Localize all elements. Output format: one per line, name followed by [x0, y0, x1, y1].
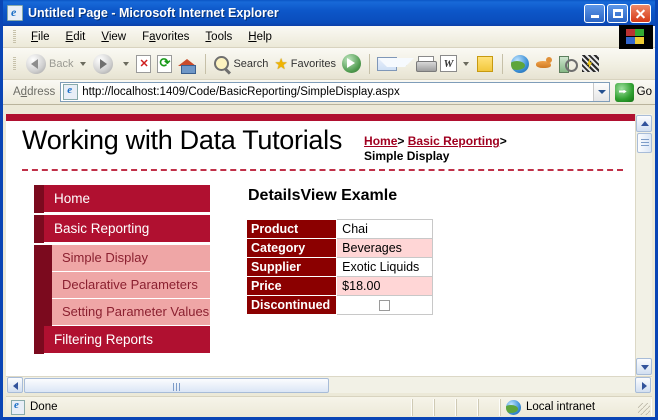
table-row: Category Beverages	[247, 239, 433, 258]
favorites-label: Favorites	[291, 58, 336, 70]
ie-page-icon	[7, 5, 23, 21]
go-arrow-icon	[615, 83, 634, 102]
table-row: Product Chai	[247, 220, 433, 239]
breadcrumb-sep-1: >	[397, 134, 404, 148]
close-button[interactable]	[630, 4, 651, 23]
sidebar-item-setting-parameter-values[interactable]: Setting Parameter Values	[52, 299, 210, 326]
sidebar-item-declarative-parameters[interactable]: Declarative Parameters	[52, 272, 210, 299]
ie-page-icon-small	[63, 84, 78, 100]
resize-grip[interactable]	[638, 403, 650, 415]
page-title: Working with Data Tutorials	[22, 125, 342, 156]
breadcrumb-sep-2: >	[500, 134, 507, 148]
sidebar-item-basic-reporting[interactable]: Basic Reporting	[34, 215, 210, 243]
toolbar-separator-2	[369, 54, 370, 74]
menu-favorites[interactable]: Favorites	[134, 29, 197, 45]
address-dropdown-icon[interactable]	[593, 83, 609, 101]
discontinued-checkbox[interactable]	[379, 300, 390, 311]
row-field-label: Product	[247, 220, 337, 239]
ie-page-icon-status	[11, 400, 25, 415]
back-icon	[26, 54, 46, 74]
navigation-toolbar: Back Search ★ Favorites W	[3, 48, 655, 80]
sidebar-subnav: Simple Display Declarative Parameters Se…	[34, 245, 210, 326]
menu-view[interactable]: View	[93, 29, 134, 45]
windows-logo-icon	[619, 25, 653, 49]
status-bar: Done Local intranet	[6, 396, 652, 417]
go-button[interactable]: Go	[615, 83, 652, 102]
row-field-label: Price	[247, 277, 337, 296]
nav-sub-accent-bar	[34, 245, 52, 326]
vertical-scroll-thumb[interactable]	[637, 133, 652, 153]
globe-icon	[506, 400, 521, 415]
page-header: Working with Data Tutorials Home> Basic …	[6, 121, 635, 166]
main-content: DetailsView Examle Product Chai Category…	[246, 185, 433, 356]
scroll-down-button[interactable]	[636, 358, 652, 375]
sidebar-subnav-list: Simple Display Declarative Parameters Se…	[52, 245, 210, 326]
nav-accent-bar	[34, 326, 44, 354]
status-text: Done	[30, 401, 58, 413]
refresh-icon[interactable]	[157, 55, 172, 73]
back-button[interactable]: Back	[23, 52, 76, 76]
horizontal-scroll-thumb[interactable]	[24, 378, 329, 393]
search-button[interactable]: Search	[211, 52, 271, 76]
window-buttons	[584, 4, 653, 23]
menu-tools[interactable]: Tools	[197, 29, 240, 45]
status-pane-2	[434, 399, 456, 416]
address-bar: Address http://localhost:1409/Code/Basic…	[3, 80, 655, 105]
scroll-right-button[interactable]	[635, 377, 651, 393]
go-label: Go	[637, 86, 652, 98]
media-icon[interactable]	[342, 54, 361, 73]
row-field-label: Supplier	[247, 258, 337, 277]
browser-window: Untitled Page - Microsoft Internet Explo…	[0, 0, 658, 420]
globe-icon[interactable]	[511, 55, 529, 73]
status-pane-3	[456, 399, 478, 416]
vertical-scrollbar[interactable]	[635, 114, 652, 376]
table-row: Supplier Exotic Liquids	[247, 258, 433, 277]
minimize-button[interactable]	[584, 4, 605, 23]
table-row: Discontinued	[247, 296, 433, 315]
breadcrumb-section-link[interactable]: Basic Reporting	[408, 134, 500, 148]
row-field-label: Discontinued	[247, 296, 337, 315]
menu-help[interactable]: Help	[240, 29, 280, 45]
content-heading: DetailsView Examle	[248, 187, 433, 205]
forward-button[interactable]	[90, 52, 119, 76]
maximize-button[interactable]	[607, 4, 628, 23]
status-pane-1	[412, 399, 434, 416]
table-row: Price $18.00	[247, 277, 433, 296]
horizontal-scrollbar[interactable]	[6, 376, 652, 393]
row-value: Beverages	[337, 239, 433, 258]
forward-dropdown-icon[interactable]	[123, 62, 129, 66]
security-zone-pane[interactable]: Local intranet	[500, 399, 652, 416]
favorites-button[interactable]: ★ Favorites	[271, 52, 339, 76]
sidebar-nav: Home Basic Reporting Simple Display Decl…	[34, 185, 210, 356]
menu-bar: File Edit View Favorites Tools Help	[3, 26, 655, 48]
home-icon[interactable]	[178, 55, 197, 72]
search-icon	[214, 56, 229, 71]
address-label: Address	[13, 86, 55, 98]
content-viewport: Working with Data Tutorials Home> Basic …	[6, 114, 652, 376]
window-title: Untitled Page - Microsoft Internet Explo…	[28, 6, 584, 20]
messenger-icon[interactable]	[582, 55, 599, 72]
row-value: $18.00	[337, 277, 433, 296]
status-pane-4	[478, 399, 500, 416]
toolbar-separator	[205, 54, 206, 74]
toolbar-grip[interactable]	[13, 57, 16, 71]
address-input[interactable]: http://localhost:1409/Code/BasicReportin…	[60, 82, 609, 102]
row-value: Chai	[337, 220, 433, 239]
row-value-checkbox	[337, 296, 433, 315]
menu-edit[interactable]: Edit	[58, 29, 94, 45]
address-url-text: http://localhost:1409/Code/BasicReportin…	[82, 86, 592, 98]
research-icon[interactable]	[559, 55, 576, 72]
favorites-star-icon: ★	[274, 55, 287, 73]
sidebar-item-simple-display[interactable]: Simple Display	[52, 245, 210, 272]
sidebar-item-filtering-reports[interactable]: Filtering Reports	[34, 326, 210, 354]
menu-grip[interactable]	[13, 30, 16, 44]
breadcrumb-current: Simple Display	[364, 149, 449, 163]
print-icon[interactable]	[416, 56, 435, 71]
back-dropdown-icon[interactable]	[80, 62, 86, 66]
detailsview-body: Product Chai Category Beverages Supplier…	[247, 220, 433, 315]
web-page: Working with Data Tutorials Home> Basic …	[6, 114, 635, 376]
row-field-label: Category	[247, 239, 337, 258]
edit-word-icon[interactable]: W	[440, 55, 457, 72]
back-label: Back	[49, 58, 73, 70]
scroll-left-button[interactable]	[7, 377, 23, 393]
sidebar-item-label: Basic Reporting	[44, 215, 210, 243]
page-body: Home Basic Reporting Simple Display Decl…	[6, 171, 635, 356]
scroll-up-button[interactable]	[636, 115, 652, 132]
mail-icon[interactable]	[377, 57, 397, 71]
menu-file[interactable]: File	[23, 29, 58, 45]
edit-dropdown-icon[interactable]	[463, 62, 469, 66]
forward-icon	[93, 54, 113, 74]
breadcrumb: Home> Basic Reporting> Simple Display	[364, 134, 507, 164]
breadcrumb-home-link[interactable]: Home	[364, 134, 397, 148]
status-message-pane: Done	[6, 399, 412, 416]
toolbar-separator-3	[502, 54, 503, 74]
sidebar-item-home[interactable]: Home	[34, 185, 210, 213]
detailsview-table: Product Chai Category Beverages Supplier…	[246, 219, 433, 315]
fox-icon[interactable]	[535, 56, 553, 72]
zone-label: Local intranet	[526, 401, 595, 413]
title-bar: Untitled Page - Microsoft Internet Explo…	[3, 0, 655, 26]
search-label: Search	[233, 58, 268, 70]
sidebar-item-label: Filtering Reports	[44, 326, 210, 354]
nav-accent-bar	[34, 215, 44, 243]
row-value: Exotic Liquids	[337, 258, 433, 277]
sidebar-item-label: Home	[44, 185, 210, 213]
notes-icon[interactable]	[477, 56, 493, 72]
page-top-bar	[6, 114, 635, 121]
stop-icon[interactable]	[136, 55, 151, 73]
nav-accent-bar	[34, 185, 44, 213]
